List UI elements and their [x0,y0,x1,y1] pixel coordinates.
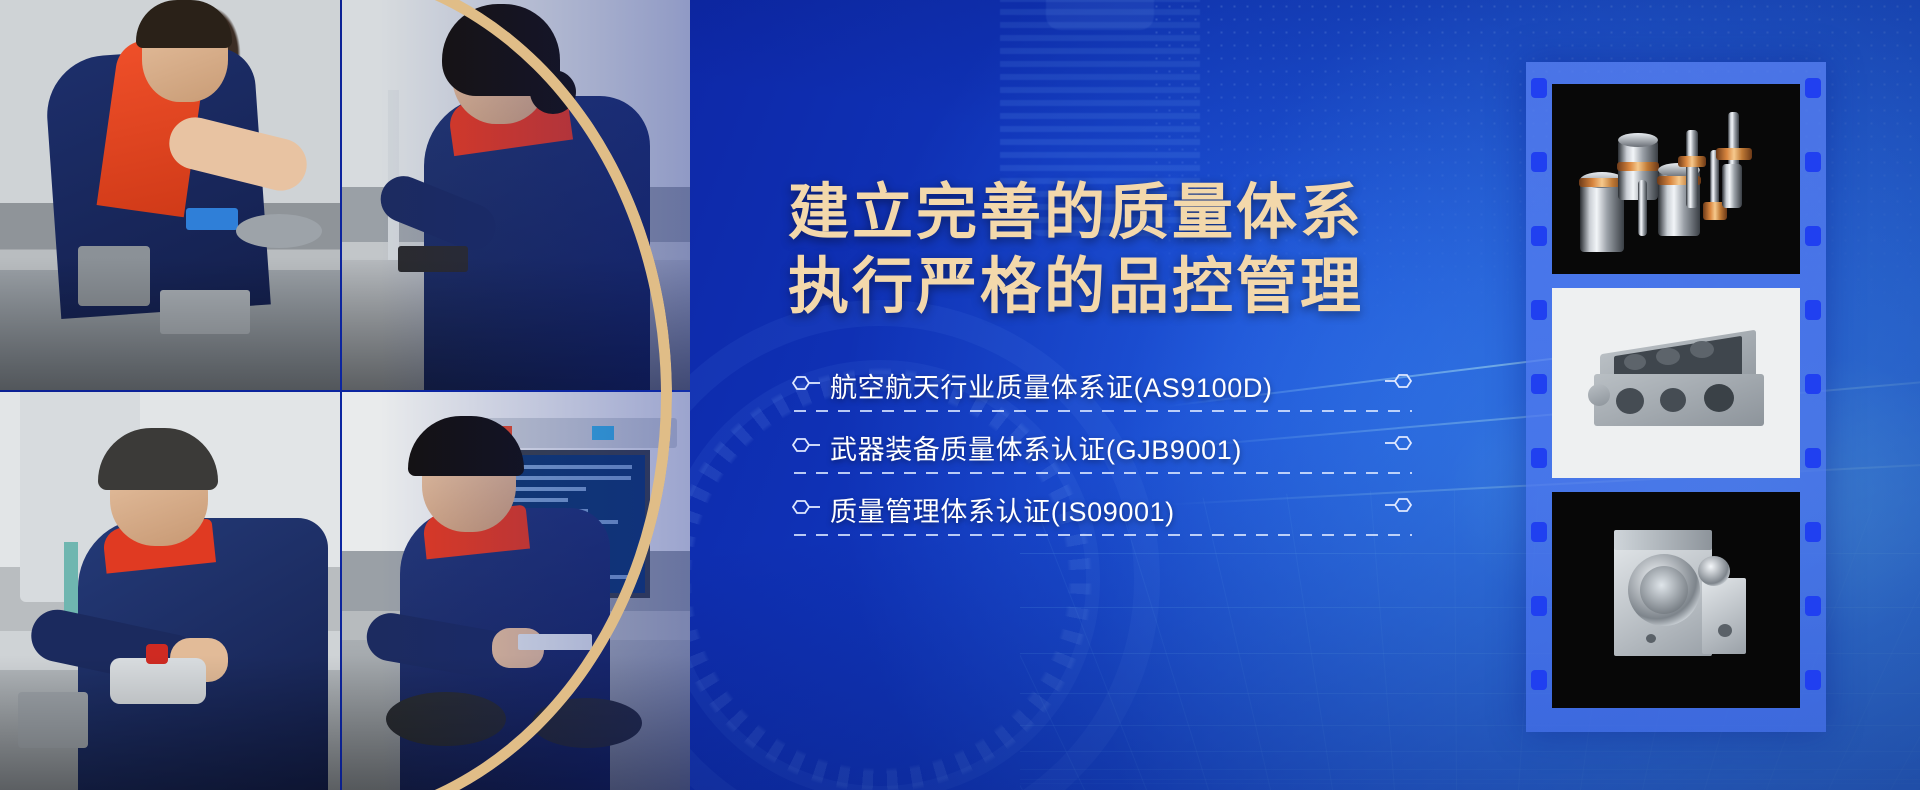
product-filmstrip [1526,62,1826,732]
hexagon-bullet-icon [788,498,822,516]
filmstrip-perforation [1805,226,1821,246]
filmstrip-perforation [1531,448,1547,468]
certification-item-iso[interactable]: 质量管理体系认证(IS09001) [788,486,1488,548]
certification-label: 武器装备质量体系认证(GJB9001) [830,428,1242,467]
filmstrip-perforation [1805,300,1821,320]
filmstrip-perforation [1805,374,1821,394]
filmstrip-perforation [1531,78,1547,98]
certification-label: 航空航天行业质量体系证(AS9100D) [830,366,1273,405]
filmstrip-perforation [1805,152,1821,172]
certification-list: 航空航天行业质量体系证(AS9100D) 武器装备质量体系认证(GJB9001) [788,362,1488,548]
filmstrip-perforation [1805,670,1821,690]
filmstrip-perforation [1531,522,1547,542]
certification-item-aerospace[interactable]: 航空航天行业质量体系证(AS9100D) [788,362,1488,424]
dashed-separator [794,472,1412,474]
filmstrip-perforation [1805,596,1821,616]
hexagon-end-icon [1382,496,1416,514]
filmstrip-perforation [1805,78,1821,98]
filmstrip-perforation [1531,300,1547,320]
certification-item-military[interactable]: 武器装备质量体系认证(GJB9001) [788,424,1488,486]
filmstrip-perforation [1805,522,1821,542]
bearing-block-assembly-product[interactable] [1552,492,1800,708]
hexagon-bullet-icon [788,374,822,392]
dashed-separator [794,534,1412,536]
headline-line-1: 建立完善的质量体系 [788,175,1488,249]
filmstrip-perforation [1531,152,1547,172]
filmstrip-perforation [1531,670,1547,690]
machined-aluminium-housing-product[interactable] [1552,288,1800,478]
filmstrip-perforation [1805,448,1821,468]
certification-label: 质量管理体系认证(IS09001) [830,490,1175,529]
hexagon-bullet-icon [788,436,822,454]
hexagon-end-icon [1382,434,1416,452]
filmstrip-perforation [1531,226,1547,246]
filmstrip-perforation [1531,596,1547,616]
headline-line-2: 执行严格的品控管理 [788,249,1488,323]
quality-system-banner: 建立完善的质量体系 执行严格的品控管理 航空航天行业质量体系证(AS9100D) [0,0,1920,790]
dashed-separator [794,410,1412,412]
precision-shafts-and-bushings-product[interactable] [1552,84,1800,274]
gold-arc-divider [0,0,672,790]
hexagon-end-icon [1382,372,1416,390]
filmstrip-perforation [1531,374,1547,394]
headline-block: 建立完善的质量体系 执行严格的品控管理 航空航天行业质量体系证(AS9100D) [788,175,1488,548]
